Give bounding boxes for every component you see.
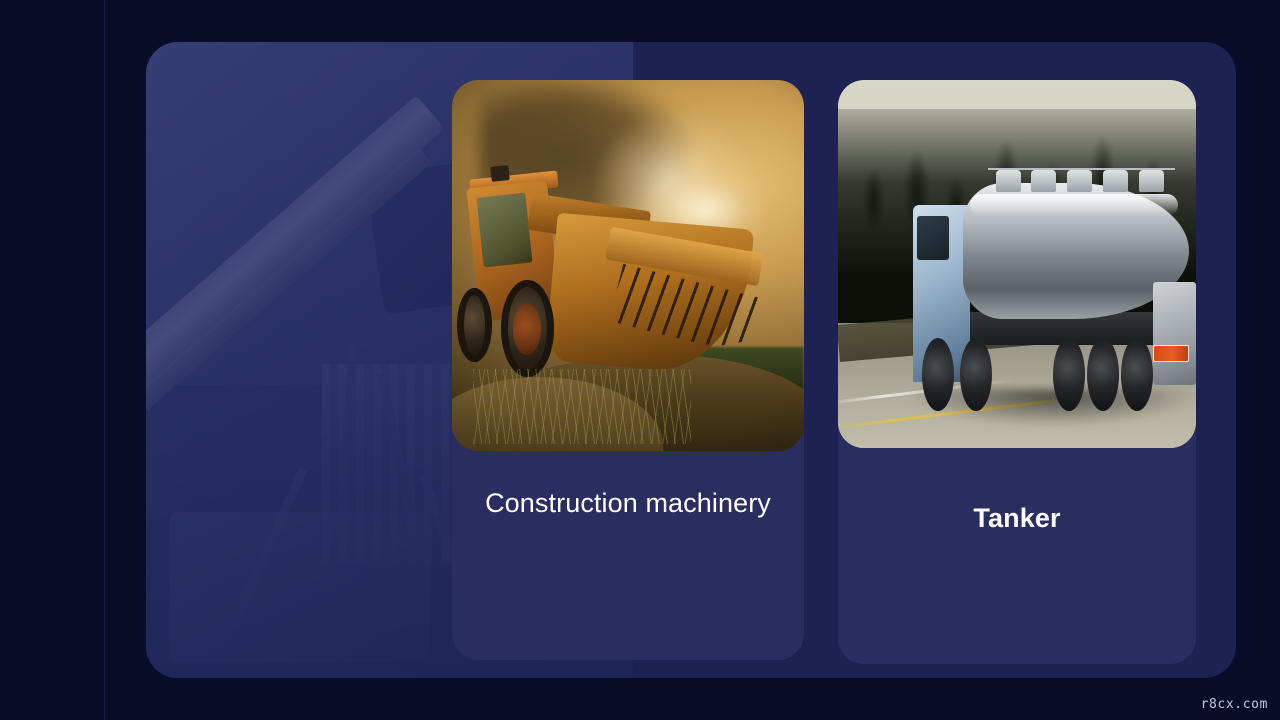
cab-window (917, 216, 949, 260)
trailer-wheel (1053, 338, 1085, 412)
trailer-tail-light (1153, 345, 1189, 362)
card-label-tanker: Tanker (838, 503, 1196, 534)
trailer-wheel (1087, 338, 1119, 412)
tanker-highlight (970, 194, 1178, 216)
category-card-construction-machinery[interactable]: Construction machinery (452, 80, 804, 660)
card-image-bulldozer (452, 80, 804, 451)
tanker-hatch (996, 170, 1021, 192)
card-image-tanker (838, 80, 1196, 448)
tanker-hatch (1103, 170, 1128, 192)
under-truck-shadow (913, 389, 1192, 426)
tanker-hatch (1031, 170, 1056, 192)
slide-stage: Construction machinery (0, 0, 1280, 720)
truck-wheel (960, 338, 992, 412)
image-vignette (452, 80, 804, 451)
category-card-tanker[interactable]: Tanker (838, 80, 1196, 664)
tanker-hatch (1139, 170, 1164, 192)
content-panel: Construction machinery (146, 42, 1236, 678)
trailer-rear-panel (1153, 282, 1196, 385)
left-edge-divider (104, 0, 105, 720)
tanker-hatch (1067, 170, 1092, 192)
tanker-scene (838, 80, 1196, 448)
bulldozer-scene (452, 80, 804, 451)
trailer-wheel (1121, 338, 1153, 412)
card-label-construction-machinery: Construction machinery (452, 488, 804, 519)
watermark: r8cx.com (1201, 697, 1268, 712)
